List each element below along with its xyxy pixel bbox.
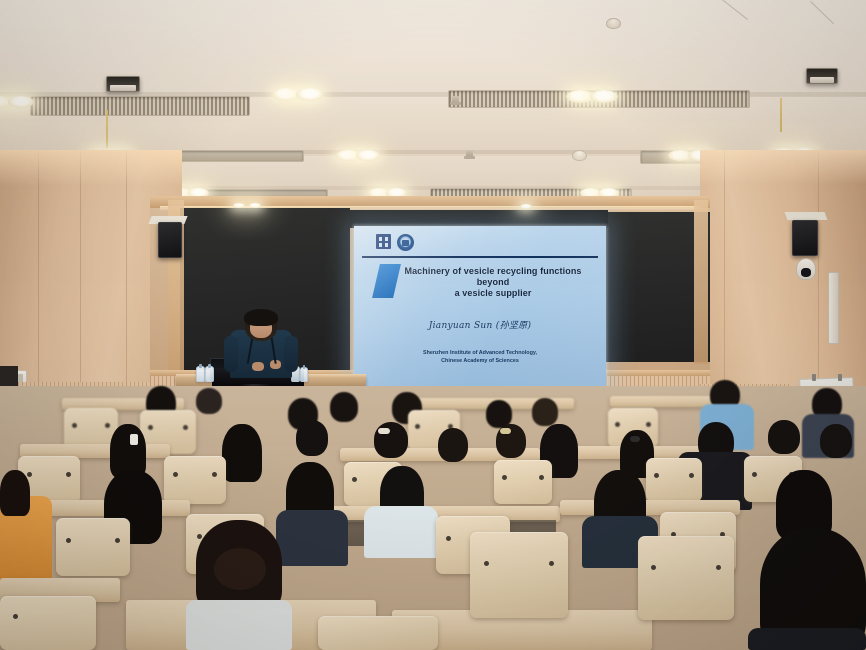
- column-speaker: [828, 272, 839, 344]
- slide-title: Machinery of vesicle recycling functions…: [390, 266, 596, 299]
- board-spotlight-1: [233, 203, 245, 208]
- projection-screen: Machinery of vesicle recycling functions…: [354, 226, 606, 388]
- wall-speaker-left: [158, 222, 182, 258]
- sprinkler-2: [452, 96, 459, 105]
- chair-r4-3: [0, 596, 96, 650]
- hair-clip-4: [630, 436, 640, 442]
- audience-torso-bun-person: [186, 600, 292, 650]
- hair-bun: [214, 548, 266, 590]
- water-bottle-1: [196, 366, 205, 382]
- projector-left: [106, 76, 140, 92]
- hair-clip-2: [378, 428, 390, 434]
- chair-r4-4: [318, 616, 438, 650]
- chair-r4-1: [470, 532, 568, 618]
- smoke-detector-2: [572, 150, 587, 161]
- chair-r3-1: [56, 518, 130, 576]
- audience-head-r2-5: [438, 428, 468, 462]
- presenter-hand-left: [252, 362, 264, 371]
- presenter-arm-left: [224, 336, 238, 372]
- whiteboard-clip-1: [812, 374, 816, 381]
- siat-round-logo: [397, 234, 414, 251]
- presenter-hair: [244, 309, 278, 326]
- presenter-arm-right: [284, 336, 298, 372]
- board-spotlight-3: [520, 204, 532, 209]
- ptz-camera: [796, 258, 816, 280]
- chair-r2-2: [164, 456, 226, 504]
- audience-head-r1-7: [532, 398, 558, 426]
- hanging-cord-left: [106, 110, 108, 148]
- board-spotlight-2: [249, 203, 261, 208]
- chair-r4-2: [638, 536, 734, 620]
- smoke-detector-1: [606, 18, 621, 29]
- audience-head-r2-3: [296, 420, 328, 456]
- wall-speaker-right: [792, 220, 818, 256]
- cas-seal-logo: [376, 234, 391, 249]
- audience-head-r1-2: [196, 388, 222, 414]
- wall-left-cove-light: [0, 150, 182, 186]
- water-bottle-2: [205, 366, 214, 382]
- water-bottle-4: [300, 367, 308, 382]
- slide-affiliation: Shenzhen Institute of Advanced Technolog…: [354, 350, 606, 366]
- audience-torso-front-right: [748, 628, 866, 650]
- audience-head-r2-10: [768, 420, 800, 454]
- audience-torso-white-tee: [364, 506, 438, 558]
- hanging-cord-right: [780, 98, 782, 132]
- hvac-vent-1: [30, 96, 250, 116]
- speaker-bracket-right: [785, 212, 828, 220]
- projector-right: [806, 68, 838, 84]
- audience-head-r2-11: [820, 424, 852, 458]
- board-right-trim: [694, 200, 708, 364]
- whiteboard-clip-2: [838, 374, 842, 381]
- chair-r2-5: [646, 458, 702, 502]
- chair-r2-4: [494, 460, 552, 504]
- audience-torso-r3-2: [276, 510, 348, 566]
- wall-right-cove-light: [700, 150, 866, 184]
- sprinkler-3: [466, 150, 473, 159]
- hair-clip-3: [500, 428, 511, 434]
- lecture-hall-photo: Machinery of vesicle recycling functions…: [0, 0, 866, 650]
- audience-hair-r2-2: [222, 424, 262, 482]
- slide-divider-rule: [362, 256, 598, 258]
- slide-author: Jianyuan Sun (孙坚原): [354, 318, 606, 331]
- hair-clip-1: [130, 434, 138, 445]
- audience-head-r1-4: [330, 392, 358, 422]
- audience-hair-r3-0: [0, 470, 30, 516]
